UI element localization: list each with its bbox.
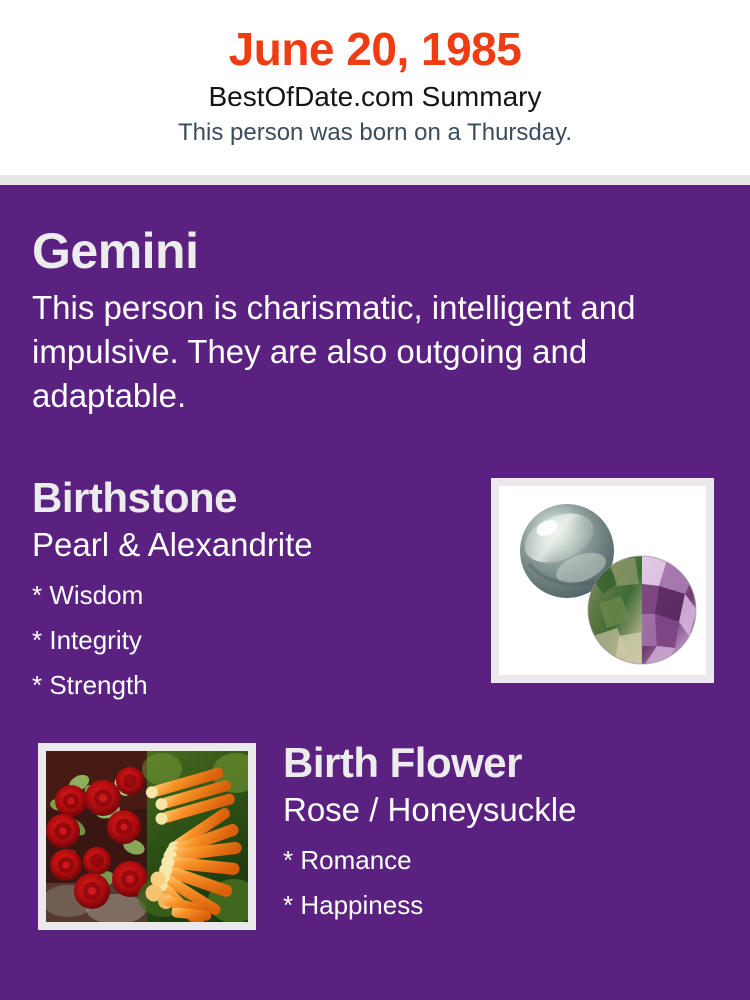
birth-flower-heading: Birth Flower: [283, 738, 713, 788]
pearl-and-alexandrite-icon: [499, 486, 706, 675]
zodiac-sign-heading: Gemini: [32, 222, 708, 280]
summary-panel: Gemini This person is charismatic, intel…: [0, 185, 750, 1000]
rose-and-honeysuckle-icon: [46, 751, 248, 922]
birth-flower-image-frame: [38, 743, 256, 930]
birthstone-heading: Birthstone: [32, 473, 472, 523]
birth-flower-subtitle: Rose / Honeysuckle: [283, 790, 713, 830]
birthstone-trait-list: * Wisdom * Integrity * Strength: [32, 573, 472, 708]
list-item: * Romance: [283, 838, 713, 883]
list-item: * Happiness: [283, 883, 713, 928]
zodiac-description: This person is charismatic, intelligent …: [32, 286, 702, 418]
page-header: June 20, 1985 BestOfDate.com Summary Thi…: [0, 0, 750, 175]
header-divider: [0, 175, 750, 185]
birth-flower-section: Birth Flower Rose / Honeysuckle * Romanc…: [283, 738, 713, 928]
site-summary-label: BestOfDate.com Summary: [0, 79, 750, 115]
birthstone-subtitle: Pearl & Alexandrite: [32, 525, 472, 565]
birth-flower-trait-list: * Romance * Happiness: [283, 838, 713, 928]
list-item: * Strength: [32, 663, 472, 708]
birthstone-section: Birthstone Pearl & Alexandrite * Wisdom …: [32, 473, 472, 708]
weekday-label: This person was born on a Thursday.: [0, 117, 750, 149]
zodiac-section: Gemini This person is charismatic, intel…: [32, 222, 708, 418]
list-item: * Integrity: [32, 618, 472, 663]
page-title: June 20, 1985: [0, 22, 750, 76]
list-item: * Wisdom: [32, 573, 472, 618]
birth-flower-image: [46, 751, 248, 922]
birthstone-image: [499, 486, 706, 675]
birthstone-image-frame: [491, 478, 714, 683]
